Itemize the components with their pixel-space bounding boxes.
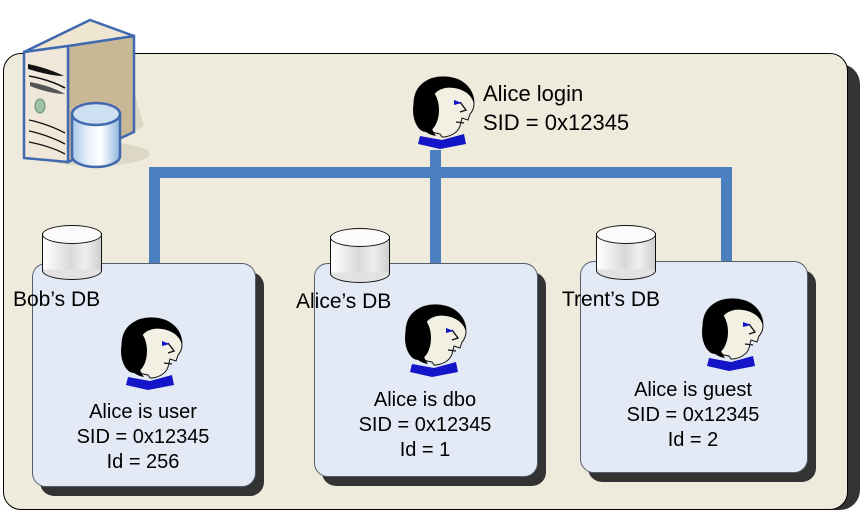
alices-db-uid: Id = 1 <box>314 438 536 463</box>
bobs-db-caption: Alice is user SID = 0x12345 Id = 256 <box>32 400 254 475</box>
person-head-icon-login <box>396 71 488 153</box>
trents-db-label: Trent’s DB <box>562 288 660 312</box>
trents-db-uid: Id = 2 <box>580 428 806 453</box>
person-head-icon-alices-db <box>388 302 480 378</box>
trents-db-caption: Alice is guest SID = 0x12345 Id = 2 <box>580 378 806 453</box>
database-cylinder-icon <box>42 225 102 279</box>
alices-db-label: Alice’s DB <box>296 290 391 314</box>
bobs-db-label: Bob’s DB <box>13 288 100 312</box>
alices-db-caption: Alice is dbo SID = 0x12345 Id = 1 <box>314 388 536 463</box>
database-cylinder-icon <box>330 228 390 282</box>
person-head-icon-bobs-db <box>104 315 196 391</box>
login-sid: SID = 0x12345 <box>483 108 629 137</box>
alices-db-sid: SID = 0x12345 <box>314 413 536 438</box>
server-tower-icon <box>8 14 154 172</box>
connector-drop-right <box>721 167 732 271</box>
trents-db-sid: SID = 0x12345 <box>580 403 806 428</box>
bobs-db-sid: SID = 0x12345 <box>32 425 254 450</box>
bobs-db-uid: Id = 256 <box>32 450 254 475</box>
diagram-canvas: Bob’s DB Alice is user SID = 0x12345 Id … <box>0 0 864 529</box>
person-head-icon-trents-db <box>685 296 777 372</box>
bobs-db-role: Alice is user <box>32 400 254 425</box>
trents-db-role: Alice is guest <box>580 378 806 403</box>
login-title: Alice login <box>483 79 629 108</box>
database-cylinder-icon <box>596 225 656 279</box>
alices-db-role: Alice is dbo <box>314 388 536 413</box>
login-caption: Alice login SID = 0x12345 <box>483 79 629 137</box>
connector-drop-middle <box>430 167 441 277</box>
